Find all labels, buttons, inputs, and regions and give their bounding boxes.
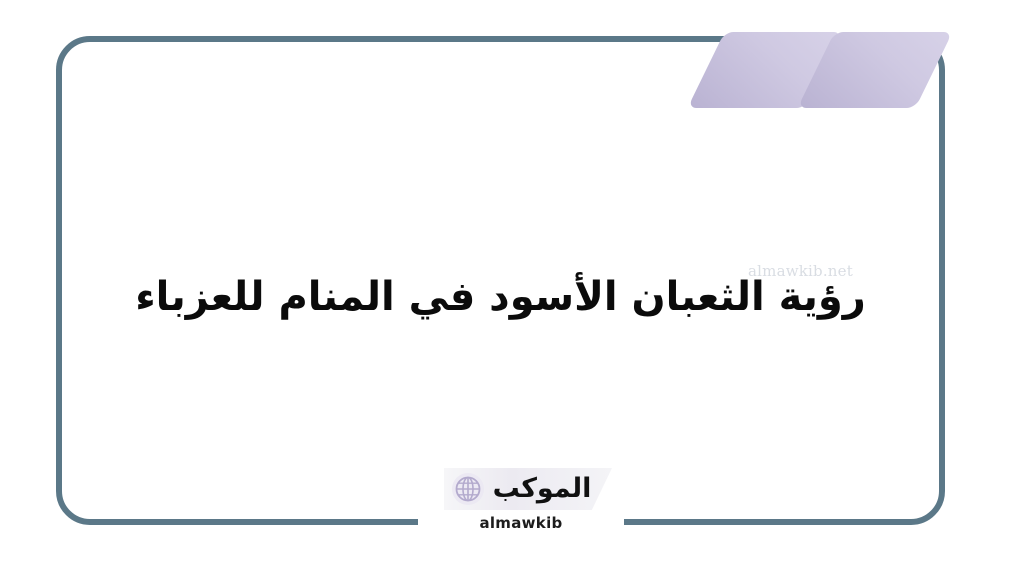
quote-mark-icon — [706, 32, 938, 108]
brand-logo[interactable]: الموكب almawkib — [418, 466, 624, 538]
page-title: رؤية الثعبان الأسود في المنام للعزباء — [56, 252, 945, 342]
brand-name-latin: almawkib — [479, 514, 562, 532]
brand-sub-wrap: almawkib — [418, 510, 624, 536]
card-canvas: almawkib.net رؤية الثعبان الأسود في المن… — [0, 0, 1024, 576]
brand-logo-row: الموكب — [418, 466, 624, 512]
page-title-text: رؤية الثعبان الأسود في المنام للعزباء — [135, 272, 866, 322]
brand-name-arabic: الموكب — [493, 475, 592, 504]
globe-icon — [451, 472, 485, 506]
